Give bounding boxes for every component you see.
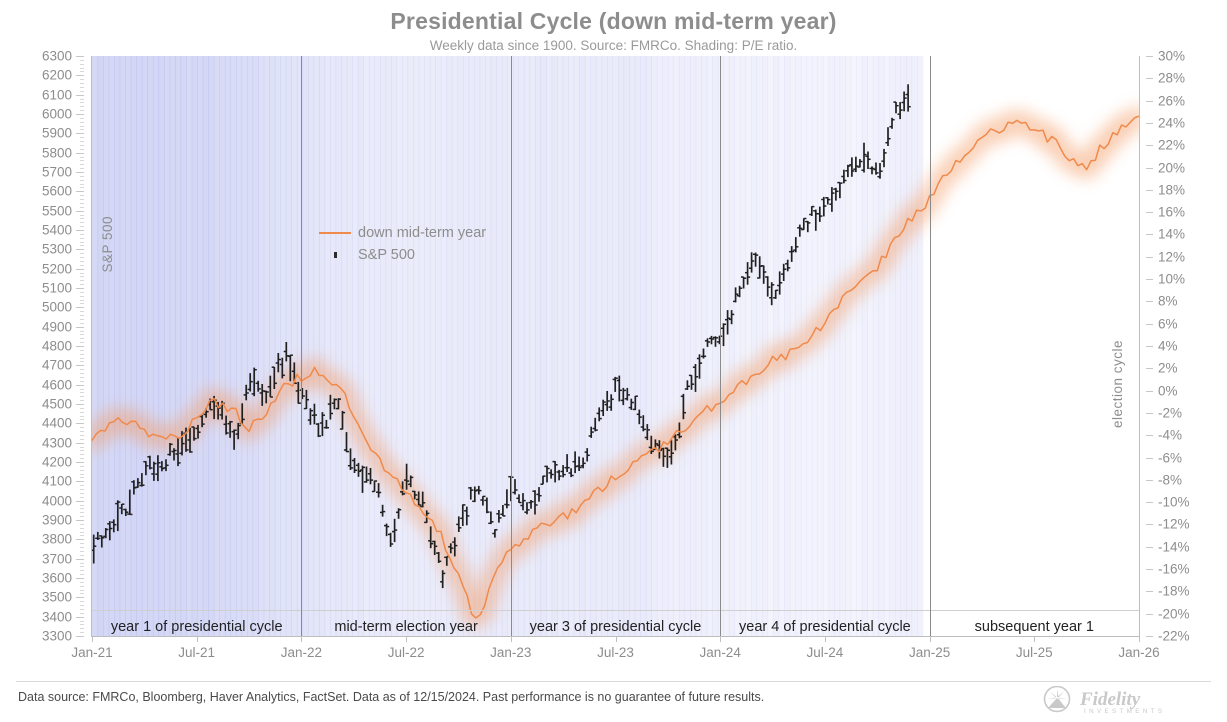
y-axis-minor-tick	[80, 624, 84, 625]
y-axis-tick	[76, 114, 84, 115]
y-axis-minor-tick	[80, 160, 84, 161]
y-axis-minor-tick	[80, 218, 84, 219]
y-axis-minor-tick	[80, 613, 84, 614]
y2-axis-tick	[1146, 101, 1153, 102]
x-axis-tick	[930, 637, 931, 642]
y-axis-minor-tick	[80, 427, 84, 428]
y-axis-tick	[76, 520, 84, 521]
x-axis: Jan-21Jul-21Jan-22Jul-22Jan-23Jul-23Jan-…	[92, 637, 1139, 667]
y2-axis-tick	[1146, 190, 1153, 191]
y-axis-tick-label: 5500	[42, 204, 72, 218]
y-axis-minor-tick	[80, 474, 84, 475]
y-axis-minor-tick	[80, 516, 84, 517]
y-axis-minor-tick	[80, 187, 84, 188]
y-axis-tick-label: 5900	[42, 127, 72, 141]
y-axis-minor-tick	[80, 354, 84, 355]
y-axis-tick-label: 3300	[42, 629, 72, 643]
y-axis-tick	[76, 346, 84, 347]
y-axis-tick	[76, 191, 84, 192]
y-axis-minor-tick	[80, 164, 84, 165]
y-axis-tick-label: 5400	[42, 223, 72, 237]
fidelity-tagline: INVESTMENTS	[1084, 708, 1165, 715]
x-axis-tick	[406, 637, 407, 642]
y-axis-tick-label: 6200	[42, 69, 72, 83]
y2-axis-tick-label: -14%	[1158, 540, 1190, 554]
y2-axis-tick	[1146, 368, 1153, 369]
y-axis-minor-tick	[80, 358, 84, 359]
y-axis-minor-tick	[80, 168, 84, 169]
y-axis-minor-tick	[80, 245, 84, 246]
y-axis-tick	[76, 443, 84, 444]
y-axis-minor-tick	[80, 586, 84, 587]
y-axis-minor-tick	[80, 242, 84, 243]
y-axis-minor-tick	[80, 129, 84, 130]
legend-bar-icon	[318, 247, 352, 263]
y-axis-minor-tick	[80, 261, 84, 262]
y2-axis-tick	[1146, 480, 1153, 481]
y-axis-minor-tick	[80, 528, 84, 529]
y-axis-minor-tick	[80, 157, 84, 158]
y-axis-minor-tick	[80, 342, 84, 343]
page-title: Presidential Cycle (down mid-term year)	[0, 8, 1227, 35]
y-axis-minor-tick	[80, 535, 84, 536]
y2-axis-tick-label: 26%	[1158, 94, 1185, 108]
y-axis-tick	[76, 153, 84, 154]
y-axis-minor-tick	[80, 621, 84, 622]
cycle-band-label: subsequent year 1	[975, 619, 1094, 635]
y-axis-tick	[76, 288, 84, 289]
y2-axis-tick	[1146, 458, 1153, 459]
y2-axis-tick-label: 2%	[1158, 362, 1178, 376]
y-axis-minor-tick	[80, 334, 84, 335]
y-axis-tick-label: 4700	[42, 359, 72, 373]
y-axis-minor-tick	[80, 122, 84, 123]
y-axis-minor-tick	[80, 145, 84, 146]
y-axis-minor-tick	[80, 466, 84, 467]
y-axis-tick	[76, 365, 84, 366]
y-axis-tick	[76, 327, 84, 328]
y-axis-minor-tick	[80, 508, 84, 509]
y-axis-minor-tick	[80, 392, 84, 393]
y-axis-tick	[76, 559, 84, 560]
y-axis-minor-tick	[80, 126, 84, 127]
x-axis-tick	[616, 637, 617, 642]
y-axis-minor-tick	[80, 273, 84, 274]
y-axis-tick	[76, 230, 84, 231]
y-axis-tick	[76, 307, 84, 308]
y-axis-tick-label: 4000	[42, 494, 72, 508]
y-axis-minor-tick	[80, 253, 84, 254]
y-axis-minor-tick	[80, 485, 84, 486]
y-axis-minor-tick	[80, 296, 84, 297]
y-axis-minor-tick	[80, 265, 84, 266]
y-axis-left: 6300620061006000590058005700560055005400…	[0, 56, 84, 636]
cycle-band-divider	[930, 56, 931, 636]
y-axis-tick	[76, 133, 84, 134]
y2-axis-tick	[1146, 56, 1153, 57]
cycle-band-divider	[720, 56, 721, 636]
y-axis-minor-tick	[80, 226, 84, 227]
y-axis-tick-label: 3600	[42, 571, 72, 585]
y-axis-minor-tick	[80, 628, 84, 629]
legend-line-icon	[318, 225, 352, 241]
y-axis-minor-tick	[80, 632, 84, 633]
legend-label: down mid-term year	[358, 225, 486, 241]
x-axis-tick	[511, 637, 512, 642]
y-axis-minor-tick	[80, 331, 84, 332]
y-axis-minor-tick	[80, 431, 84, 432]
y-axis-minor-tick	[80, 543, 84, 544]
y2-axis-tick	[1146, 547, 1153, 548]
chart-subtitle: Weekly data since 1900. Source: FMRCo. S…	[0, 38, 1227, 53]
y-axis-minor-tick	[80, 570, 84, 571]
x-axis-tick-label: Jan-22	[281, 645, 322, 660]
x-axis-tick-label: Jan-23	[490, 645, 531, 660]
y-axis-minor-tick	[80, 361, 84, 362]
x-axis-tick-label: Jul-22	[388, 645, 425, 660]
cycle-band-divider	[301, 56, 302, 636]
y-axis-minor-tick	[80, 99, 84, 100]
y-axis-minor-tick	[80, 470, 84, 471]
legend-item-sp500: S&P 500	[318, 244, 486, 266]
y2-axis-tick-label: 14%	[1158, 228, 1185, 242]
y-axis-minor-tick	[80, 493, 84, 494]
x-axis-tick	[197, 637, 198, 642]
y2-axis-tick-label: -22%	[1158, 629, 1190, 643]
y-axis-minor-tick	[80, 477, 84, 478]
y-axis-minor-tick	[80, 323, 84, 324]
y-axis-tick	[76, 423, 84, 424]
chart-series-layer	[92, 56, 1139, 636]
y2-axis-tick-label: -12%	[1158, 518, 1190, 532]
x-axis-tick	[720, 637, 721, 642]
y-axis-minor-tick	[80, 79, 84, 80]
y-axis-minor-tick	[80, 590, 84, 591]
y-axis-minor-tick	[80, 303, 84, 304]
y-axis-minor-tick	[80, 83, 84, 84]
y2-axis-tick	[1146, 413, 1153, 414]
y-axis-tick-label: 5200	[42, 262, 72, 276]
y-axis-minor-tick	[80, 582, 84, 583]
y-axis-minor-tick	[80, 176, 84, 177]
y-axis-tick	[76, 75, 84, 76]
y-axis-tick-label: 3800	[42, 533, 72, 547]
x-axis-tick	[825, 637, 826, 642]
y2-axis-tick	[1146, 301, 1153, 302]
y-axis-minor-tick	[80, 555, 84, 556]
y-axis-minor-tick	[80, 91, 84, 92]
y-axis-tick	[76, 578, 84, 579]
y-axis-minor-tick	[80, 574, 84, 575]
y-axis-minor-tick	[80, 593, 84, 594]
y2-axis-tick-label: -10%	[1158, 495, 1190, 509]
x-axis-tick-label: Jan-25	[909, 645, 950, 660]
y2-axis-tick	[1146, 212, 1153, 213]
y-axis-tick-label: 4200	[42, 455, 72, 469]
y2-axis-tick-label: 30%	[1158, 49, 1185, 63]
fidelity-logo: Fidelity INVESTMENTS	[1038, 686, 1214, 716]
y-axis-minor-tick	[80, 563, 84, 564]
y2-axis-tick-label: 18%	[1158, 183, 1185, 197]
y-axis-minor-tick	[80, 489, 84, 490]
y-axis-tick	[76, 617, 84, 618]
y-axis-minor-tick	[80, 195, 84, 196]
y-axis-tick	[76, 481, 84, 482]
x-axis-tick-label: Jul-21	[178, 645, 215, 660]
x-axis-tick	[92, 637, 93, 642]
legend-label: S&P 500	[358, 247, 415, 263]
y-axis-minor-tick	[80, 102, 84, 103]
y2-axis-tick	[1146, 279, 1153, 280]
y-axis-minor-tick	[80, 416, 84, 417]
chart-page: Presidential Cycle (down mid-term year) …	[0, 0, 1227, 722]
y-axis-tick	[76, 597, 84, 598]
y-axis-tick-label: 3900	[42, 513, 72, 527]
cycle-band-label: year 4 of presidential cycle	[739, 619, 911, 635]
x-axis-tick-label: Jan-24	[700, 645, 741, 660]
y-axis-minor-tick	[80, 141, 84, 142]
band-separator-top	[92, 610, 1139, 611]
cycle-band-label: year 3 of presidential cycle	[530, 619, 702, 635]
y-axis-minor-tick	[80, 512, 84, 513]
y-axis-minor-tick	[80, 524, 84, 525]
y-axis-tick-label: 4600	[42, 378, 72, 392]
cycle-band-label: year 1 of presidential cycle	[111, 619, 283, 635]
y2-axis-tick	[1146, 435, 1153, 436]
y2-axis-tick	[1146, 569, 1153, 570]
y-axis-tick	[76, 172, 84, 173]
y-axis-minor-tick	[80, 71, 84, 72]
x-axis-tick-label: Jan-21	[71, 645, 112, 660]
y-axis-minor-tick	[80, 110, 84, 111]
y2-axis-tick-label: 22%	[1158, 138, 1185, 152]
chart-legend: down mid-term year S&P 500	[318, 222, 486, 266]
y-axis-tick-label: 4400	[42, 417, 72, 431]
y-axis-minor-tick	[80, 396, 84, 397]
y-axis-tick	[76, 95, 84, 96]
y-axis-tick	[76, 269, 84, 270]
y2-axis-tick-label: 28%	[1158, 72, 1185, 86]
y-axis-minor-tick	[80, 207, 84, 208]
y-axis-tick	[76, 636, 84, 637]
x-axis-tick	[1034, 637, 1035, 642]
y-axis-tick-label: 6300	[42, 49, 72, 63]
y-axis-minor-tick	[80, 199, 84, 200]
x-axis-tick-label: Jul-25	[1016, 645, 1053, 660]
x-axis-tick	[1139, 637, 1140, 642]
y-axis-tick-label: 4800	[42, 339, 72, 353]
y2-axis-tick	[1146, 591, 1153, 592]
y-axis-minor-tick	[80, 280, 84, 281]
y-axis-minor-tick	[80, 447, 84, 448]
y-axis-minor-tick	[80, 64, 84, 65]
y-axis-right-title: election cycle	[1110, 340, 1125, 428]
y-axis-tick	[76, 501, 84, 502]
y-axis-minor-tick	[80, 87, 84, 88]
y-axis-minor-tick	[80, 532, 84, 533]
y-axis-minor-tick	[80, 292, 84, 293]
cycle-band-divider	[511, 56, 512, 636]
y-axis-minor-tick	[80, 234, 84, 235]
y-axis-minor-tick	[80, 215, 84, 216]
y-axis-tick-label: 4900	[42, 320, 72, 334]
y2-axis-tick-label: 8%	[1158, 295, 1178, 309]
y-axis-minor-tick	[80, 319, 84, 320]
y-axis-minor-tick	[80, 609, 84, 610]
y-axis-tick-label: 3400	[42, 610, 72, 624]
footer-divider	[16, 681, 1211, 682]
y2-axis-tick	[1146, 524, 1153, 525]
y-axis-minor-tick	[80, 149, 84, 150]
y2-axis-tick-label: -18%	[1158, 585, 1190, 599]
y2-axis-tick	[1146, 168, 1153, 169]
y-axis-minor-tick	[80, 238, 84, 239]
y-axis-tick	[76, 539, 84, 540]
y-axis-minor-tick	[80, 419, 84, 420]
y2-axis-tick	[1146, 123, 1153, 124]
y2-axis-tick-label: -20%	[1158, 607, 1190, 621]
y-axis-minor-tick	[80, 450, 84, 451]
y-axis-minor-tick	[80, 458, 84, 459]
y-axis-minor-tick	[80, 605, 84, 606]
y-axis-tick-label: 6000	[42, 107, 72, 121]
y-axis-tick	[76, 211, 84, 212]
y-axis-tick-label: 4100	[42, 475, 72, 489]
y2-axis-tick-label: 6%	[1158, 317, 1178, 331]
y-axis-tick-label: 3700	[42, 552, 72, 566]
y-axis-minor-tick	[80, 180, 84, 181]
y-axis-tick	[76, 249, 84, 250]
y2-axis-tick	[1146, 636, 1153, 637]
y-axis-minor-tick	[80, 222, 84, 223]
y-axis-tick-label: 5100	[42, 281, 72, 295]
y-axis-tick-label: 4300	[42, 436, 72, 450]
y2-axis-tick	[1146, 614, 1153, 615]
y-axis-tick-label: 5000	[42, 301, 72, 315]
y2-axis-tick-label: -2%	[1158, 406, 1182, 420]
y-axis-minor-tick	[80, 276, 84, 277]
y2-axis-tick-label: 12%	[1158, 250, 1185, 264]
y-axis-tick-label: 5700	[42, 165, 72, 179]
y-axis-minor-tick	[80, 137, 84, 138]
y-axis-minor-tick	[80, 257, 84, 258]
fidelity-wordmark: Fidelity	[1079, 689, 1141, 710]
plot-area	[92, 56, 1139, 636]
legend-item-down-mid-term-year: down mid-term year	[318, 222, 486, 244]
y2-axis-tick-label: -6%	[1158, 451, 1182, 465]
y-axis-tick	[76, 56, 84, 57]
y2-axis-tick-label: 20%	[1158, 161, 1185, 175]
y-axis-tick-label: 6100	[42, 88, 72, 102]
y2-axis-tick-label: 4%	[1158, 339, 1178, 353]
y2-axis-tick-label: 24%	[1158, 116, 1185, 130]
y-axis-right: 30%28%26%24%22%20%18%16%14%12%10%8%6%4%2…	[1146, 56, 1216, 636]
y-axis-minor-tick	[80, 566, 84, 567]
y-axis-minor-tick	[80, 497, 84, 498]
y2-axis-tick	[1146, 234, 1153, 235]
y-axis-minor-tick	[80, 284, 84, 285]
cycle-band-label: mid-term election year	[334, 619, 477, 635]
y-axis-tick-label: 3500	[42, 591, 72, 605]
y-axis-minor-tick	[80, 184, 84, 185]
y-axis-tick-label: 4500	[42, 397, 72, 411]
y-axis-minor-tick	[80, 505, 84, 506]
y2-axis-tick	[1146, 78, 1153, 79]
y2-axis-tick	[1146, 391, 1153, 392]
y2-axis-tick	[1146, 145, 1153, 146]
y-axis-tick-label: 5800	[42, 146, 72, 160]
y-axis-minor-tick	[80, 547, 84, 548]
y2-axis-tick	[1146, 502, 1153, 503]
y2-axis-tick-label: -16%	[1158, 562, 1190, 576]
y-axis-minor-tick	[80, 400, 84, 401]
y-axis-minor-tick	[80, 435, 84, 436]
y2-axis-tick-label: 16%	[1158, 205, 1185, 219]
y-axis-tick-label: 5300	[42, 243, 72, 257]
y-axis-minor-tick	[80, 338, 84, 339]
x-axis-tick-label: Jul-24	[807, 645, 844, 660]
y-axis-minor-tick	[80, 601, 84, 602]
y-axis-minor-tick	[80, 412, 84, 413]
y-axis-minor-tick	[80, 203, 84, 204]
y-axis-minor-tick	[80, 300, 84, 301]
y2-axis-tick-label: 0%	[1158, 384, 1178, 398]
footer-source-text: Data source: FMRCo, Bloomberg, Haver Ana…	[18, 690, 764, 704]
y-axis-minor-tick	[80, 118, 84, 119]
x-axis-tick-label: Jul-23	[597, 645, 634, 660]
y-axis-minor-tick	[80, 315, 84, 316]
fidelity-logo-icon: Fidelity INVESTMENTS	[1038, 686, 1214, 716]
y-axis-minor-tick	[80, 106, 84, 107]
x-axis-tick-label: Jan-26	[1118, 645, 1159, 660]
y-axis-minor-tick	[80, 439, 84, 440]
y-axis-minor-tick	[80, 60, 84, 61]
y-axis-minor-tick	[80, 377, 84, 378]
y2-axis-tick	[1146, 324, 1153, 325]
x-axis-tick	[301, 637, 302, 642]
y-axis-tick	[76, 404, 84, 405]
y-axis-minor-tick	[80, 381, 84, 382]
y-axis-minor-tick	[80, 389, 84, 390]
axis-line-right	[1139, 56, 1140, 637]
y2-axis-tick	[1146, 346, 1153, 347]
y2-axis-tick-label: 10%	[1158, 272, 1185, 286]
y-axis-minor-tick	[80, 373, 84, 374]
y2-axis-tick-label: -4%	[1158, 428, 1182, 442]
y-axis-minor-tick	[80, 408, 84, 409]
y-axis-tick-label: 5600	[42, 185, 72, 199]
y-axis-minor-tick	[80, 68, 84, 69]
y2-axis-tick-label: -8%	[1158, 473, 1182, 487]
y-axis-minor-tick	[80, 350, 84, 351]
y-axis-minor-tick	[80, 311, 84, 312]
y-axis-minor-tick	[80, 551, 84, 552]
y-axis-tick	[76, 462, 84, 463]
y2-axis-tick	[1146, 257, 1153, 258]
y-axis-minor-tick	[80, 369, 84, 370]
y-axis-left-title: S&P 500	[100, 216, 115, 273]
y-axis-minor-tick	[80, 454, 84, 455]
y-axis-tick	[76, 385, 84, 386]
